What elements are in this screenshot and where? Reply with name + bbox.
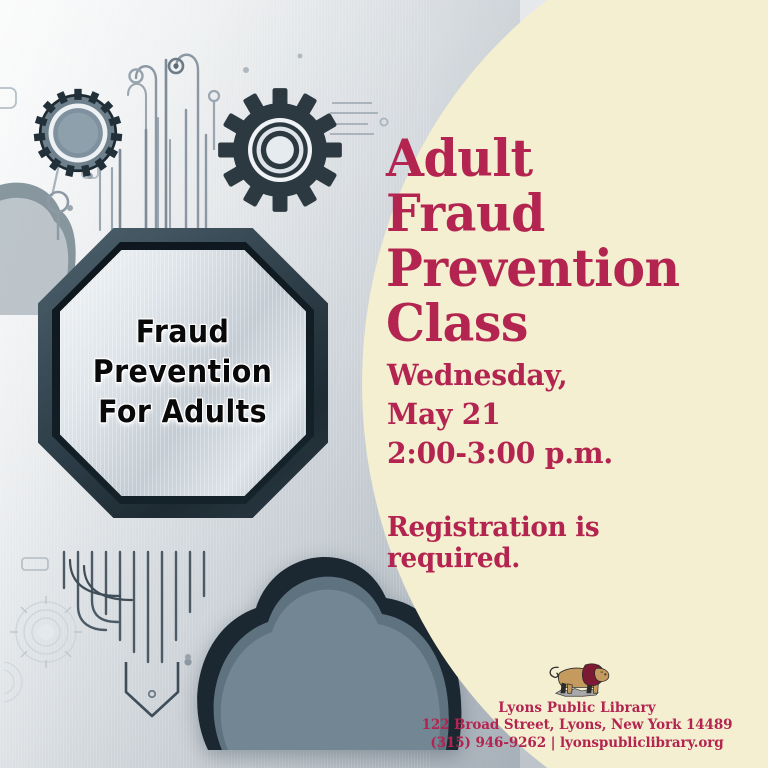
registration-note: Registration is required. [387, 512, 736, 574]
chip-text-line-1: Fraud [93, 313, 273, 353]
chip-text-line-3: For Adults [93, 393, 273, 433]
footer-text-block: Lyons Public Library 122 Broad Street, L… [386, 700, 768, 752]
chip-card-text: Fraud Prevention For Adults [93, 313, 273, 432]
footer-address: 122 Broad Street, Lyons, New York 14489 [386, 717, 768, 734]
page-title: Adult Fraud Prevention Class [386, 132, 703, 352]
chip-text-line-2: Prevention [93, 353, 273, 393]
footer-organization: Lyons Public Library [386, 700, 768, 717]
microchip-face: Fraud Prevention For Adults [60, 250, 306, 496]
headline-line-2: Prevention [386, 242, 703, 297]
headline-line-3: Class [386, 297, 703, 352]
microchip-card: Fraud Prevention For Adults [38, 228, 328, 518]
event-date: May 21 [387, 395, 717, 434]
footer: Lyons Public Library 122 Broad Street, L… [386, 652, 768, 752]
headline-line-1: Adult Fraud [386, 132, 703, 242]
lion-logo-icon [541, 652, 613, 698]
event-day: Wednesday, [387, 356, 717, 395]
footer-contact[interactable]: (315) 946-9262 | lyonspubliclibrary.org [386, 735, 768, 752]
event-datetime: Wednesday, May 21 2:00-3:00 p.m. [387, 356, 717, 473]
event-time: 2:00-3:00 p.m. [387, 434, 717, 473]
event-flyer: Fraud Prevention For Adults Adult Fraud … [0, 0, 768, 768]
